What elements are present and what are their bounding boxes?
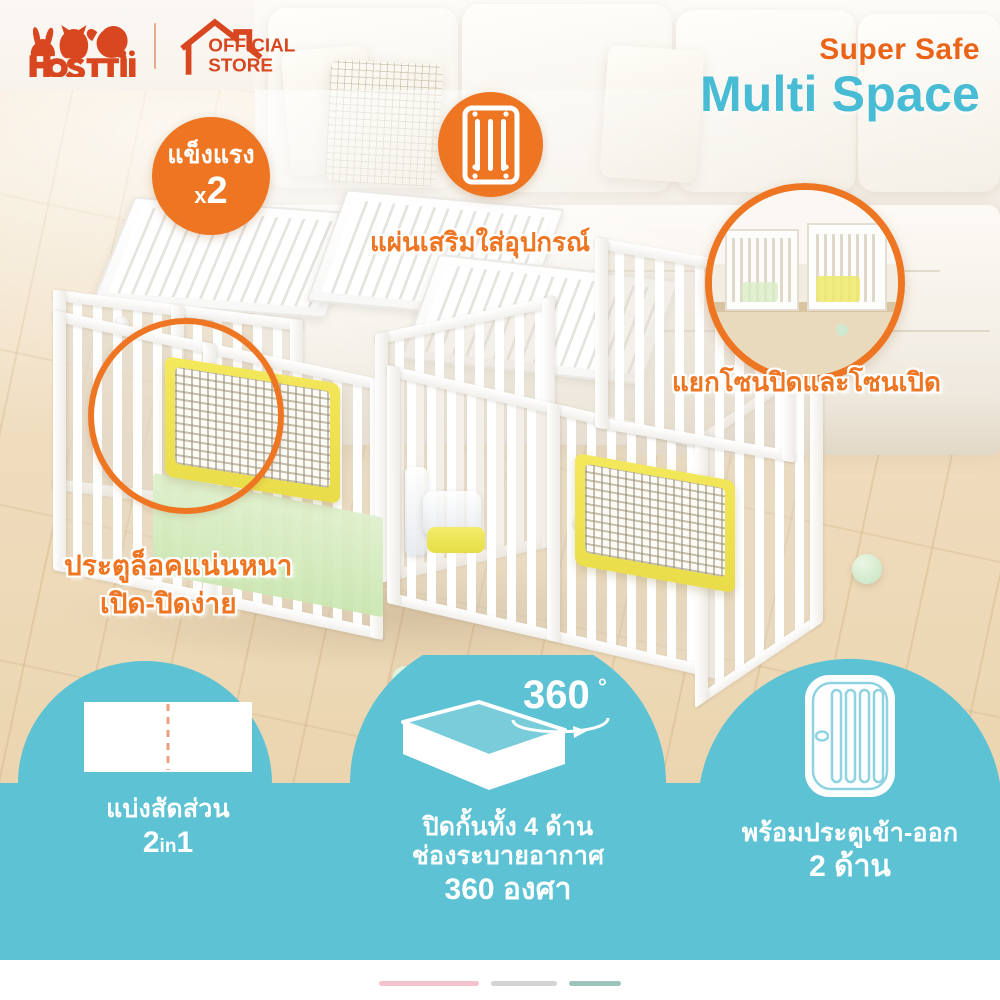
zone-callout-label: แยกโซนปิดและโซนเปิด xyxy=(672,362,941,403)
pagination-bar-3[interactable] xyxy=(569,981,621,986)
feature-2: 360 ° ปิดกั้นทั้ง 4 ด้าน ช่องระบายอากาศ … xyxy=(348,668,668,908)
box-360-rotation-icon: 360 ° xyxy=(348,668,668,803)
feature-1-caption: แบ่งสัดส่วน xyxy=(18,795,318,824)
strong-badge-label: แข็งแรง xyxy=(167,143,254,168)
feature-1-value-mid: in xyxy=(160,836,177,857)
feature-2-caption-1: ปิดกั้นทั้ง 4 ด้าน xyxy=(348,813,668,842)
strong-badge-value: x2 xyxy=(194,172,227,210)
rotation-degrees-label: 360 xyxy=(523,673,590,717)
official-label: OFFICIAL xyxy=(208,35,295,56)
brand-logo: OFFICIAL STORE xyxy=(22,10,322,82)
zone-photo-inset xyxy=(705,183,905,383)
feature-3-caption: พร้อมประตูเข้า-ออก xyxy=(700,819,1000,848)
door-highlight-ring xyxy=(88,318,284,514)
degree-symbol: ° xyxy=(598,674,607,699)
feature-1-value-suffix: 1 xyxy=(176,826,193,859)
zone-inset-image xyxy=(712,190,898,376)
pagination-bar-1[interactable] xyxy=(379,981,479,986)
feature-3: พร้อมประตูเข้า-ออก 2 ด้าน xyxy=(700,672,1000,885)
store-label: STORE xyxy=(208,54,273,75)
water-bottle-cap xyxy=(427,527,485,553)
door-callout-line-2: เปิด-ปิดง่าย xyxy=(100,582,237,626)
feature-1-value-prefix: 2 xyxy=(143,826,160,859)
feature-2-caption-2: ช่องระบายอากาศ xyxy=(348,842,668,871)
official-store-icon: OFFICIAL STORE xyxy=(172,14,302,78)
headline-line-1: Super Safe xyxy=(500,34,980,66)
feature-2-value: 360 องศา xyxy=(348,872,668,908)
headline-line-2: Multi Space xyxy=(500,68,980,121)
plate-callout-label: แผ่นเสริมใส่อุปกรณ์ xyxy=(370,222,590,263)
gate-door-icon xyxy=(700,672,1000,805)
pagination-bar-2[interactable] xyxy=(491,981,557,986)
strong-badge-prefix: x xyxy=(194,183,206,208)
feature-1-value: 2in1 xyxy=(18,825,318,861)
infographic-page: OFFICIAL STORE Super Safe Multi Space แข… xyxy=(0,0,1000,1000)
strong-badge-number: 2 xyxy=(207,170,228,212)
plate-badge xyxy=(438,92,543,197)
toy-ball xyxy=(852,554,882,584)
divided-rectangle-icon xyxy=(18,700,318,779)
grid-panel-icon xyxy=(462,105,520,185)
strong-badge: แข็งแรง x2 xyxy=(152,117,270,235)
headline: Super Safe Multi Space xyxy=(500,34,980,121)
feature-3-value: 2 ด้าน xyxy=(700,849,1000,885)
pagination-bars[interactable] xyxy=(0,981,1000,986)
hosttail-logo-icon xyxy=(22,15,138,77)
logo-divider xyxy=(154,23,156,69)
feature-1: แบ่งสัดส่วน 2in1 xyxy=(18,700,318,861)
